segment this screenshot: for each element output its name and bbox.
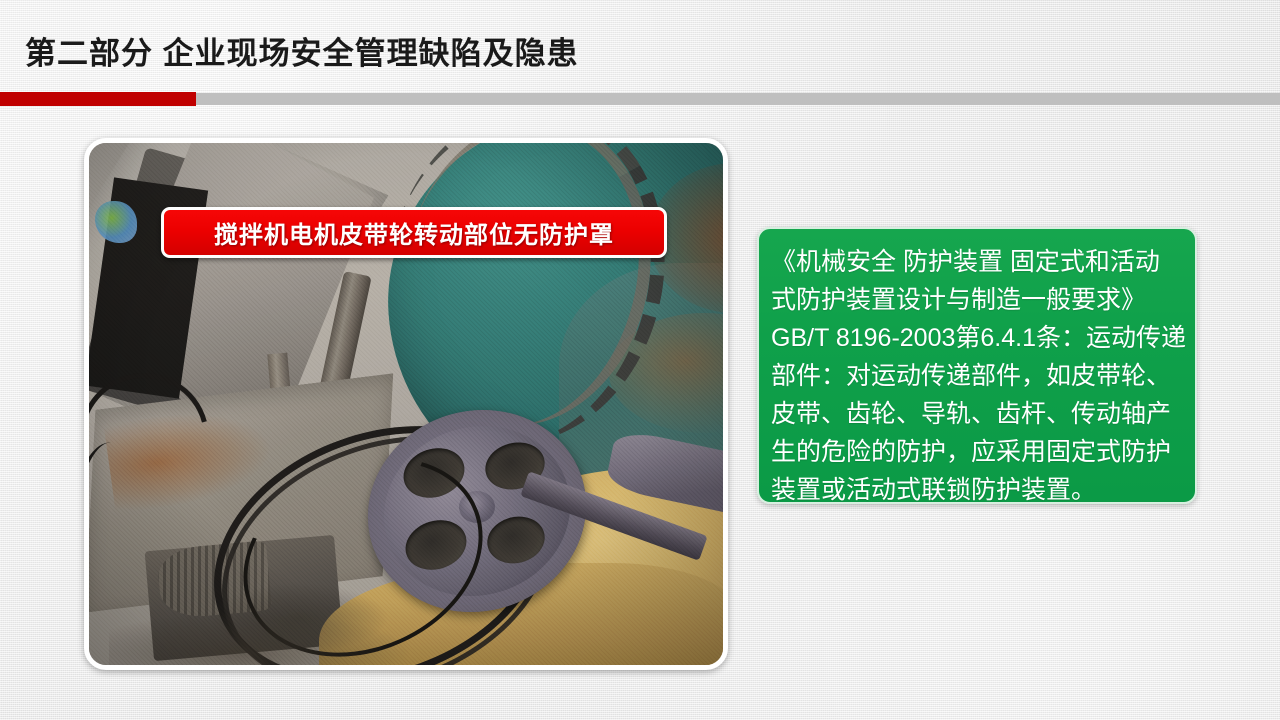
photo-caption-text: 搅拌机电机皮带轮转动部位无防护罩 bbox=[214, 215, 614, 250]
standard-line: 《机械安全 防护装置 固定式和活动 bbox=[771, 243, 1185, 281]
standard-reference-text: 《机械安全 防护装置 固定式和活动 式防护装置设计与制造一般要求》 GB/T 8… bbox=[771, 243, 1185, 509]
standard-line: 式防护装置设计与制造一般要求》 bbox=[771, 281, 1185, 319]
gray-accent-bar bbox=[196, 93, 1280, 105]
standard-line: 装置或活动式联锁防护装置。 bbox=[771, 471, 1185, 509]
page-title: 第二部分 企业现场安全管理缺陷及隐患 bbox=[25, 28, 579, 73]
standard-line: 生的危险的防护，应采用固定式防护 bbox=[771, 433, 1185, 471]
photo-caption-banner: 搅拌机电机皮带轮转动部位无防护罩 bbox=[161, 207, 667, 258]
red-accent-bar bbox=[0, 92, 196, 106]
slide-canvas: 第二部分 企业现场安全管理缺陷及隐患 bbox=[0, 0, 1280, 720]
standard-line: GB/T 8196-2003第6.4.1条：运动传递 bbox=[771, 319, 1185, 357]
standard-line: 皮带、齿轮、导轨、齿杆、传动轴产 bbox=[771, 395, 1185, 433]
header-divider bbox=[0, 92, 1280, 106]
standard-reference-box: 《机械安全 防护装置 固定式和活动 式防护装置设计与制造一般要求》 GB/T 8… bbox=[757, 227, 1197, 504]
standard-line: 部件：对运动传递部件，如皮带轮、 bbox=[771, 357, 1185, 395]
